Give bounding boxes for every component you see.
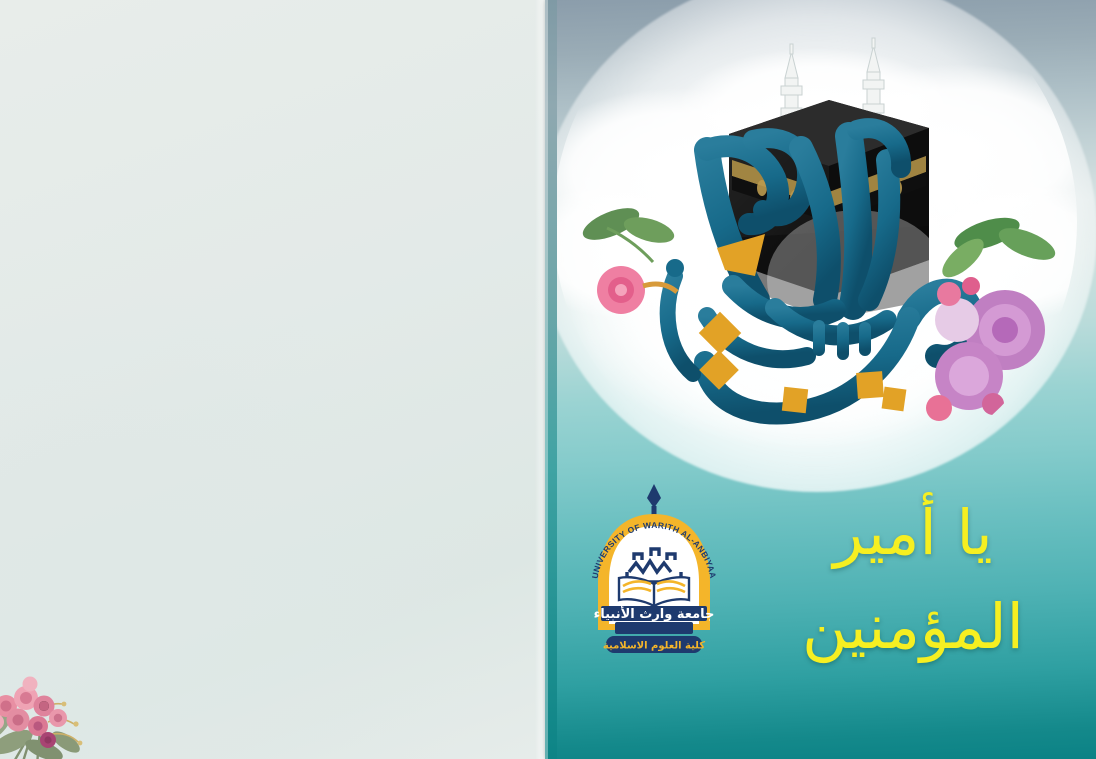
logo-arabic-sub: كلية العلوم الاسلامية [603, 641, 705, 652]
headline-line-1: يا أمير [748, 486, 1078, 580]
panel-divider [545, 0, 557, 759]
headline: يا أمير المؤمنين [748, 486, 1078, 674]
greeting-poster: تتقدم كلية العلوم الإسلامية جامعة وارث ا… [0, 0, 1096, 759]
left-panel [0, 0, 549, 759]
logo-arabic-main: جامعة وارث الأنبياء [594, 605, 715, 622]
headline-line-2: المؤمنين [748, 580, 1078, 674]
right-panel: UNIVERSITY OF WARITH AL-ANBIYAA جامعة وا… [557, 0, 1096, 759]
university-logo: UNIVERSITY OF WARITH AL-ANBIYAA جامعة وا… [579, 480, 729, 662]
kaaba-calligraphy-artwork [557, 0, 1096, 482]
